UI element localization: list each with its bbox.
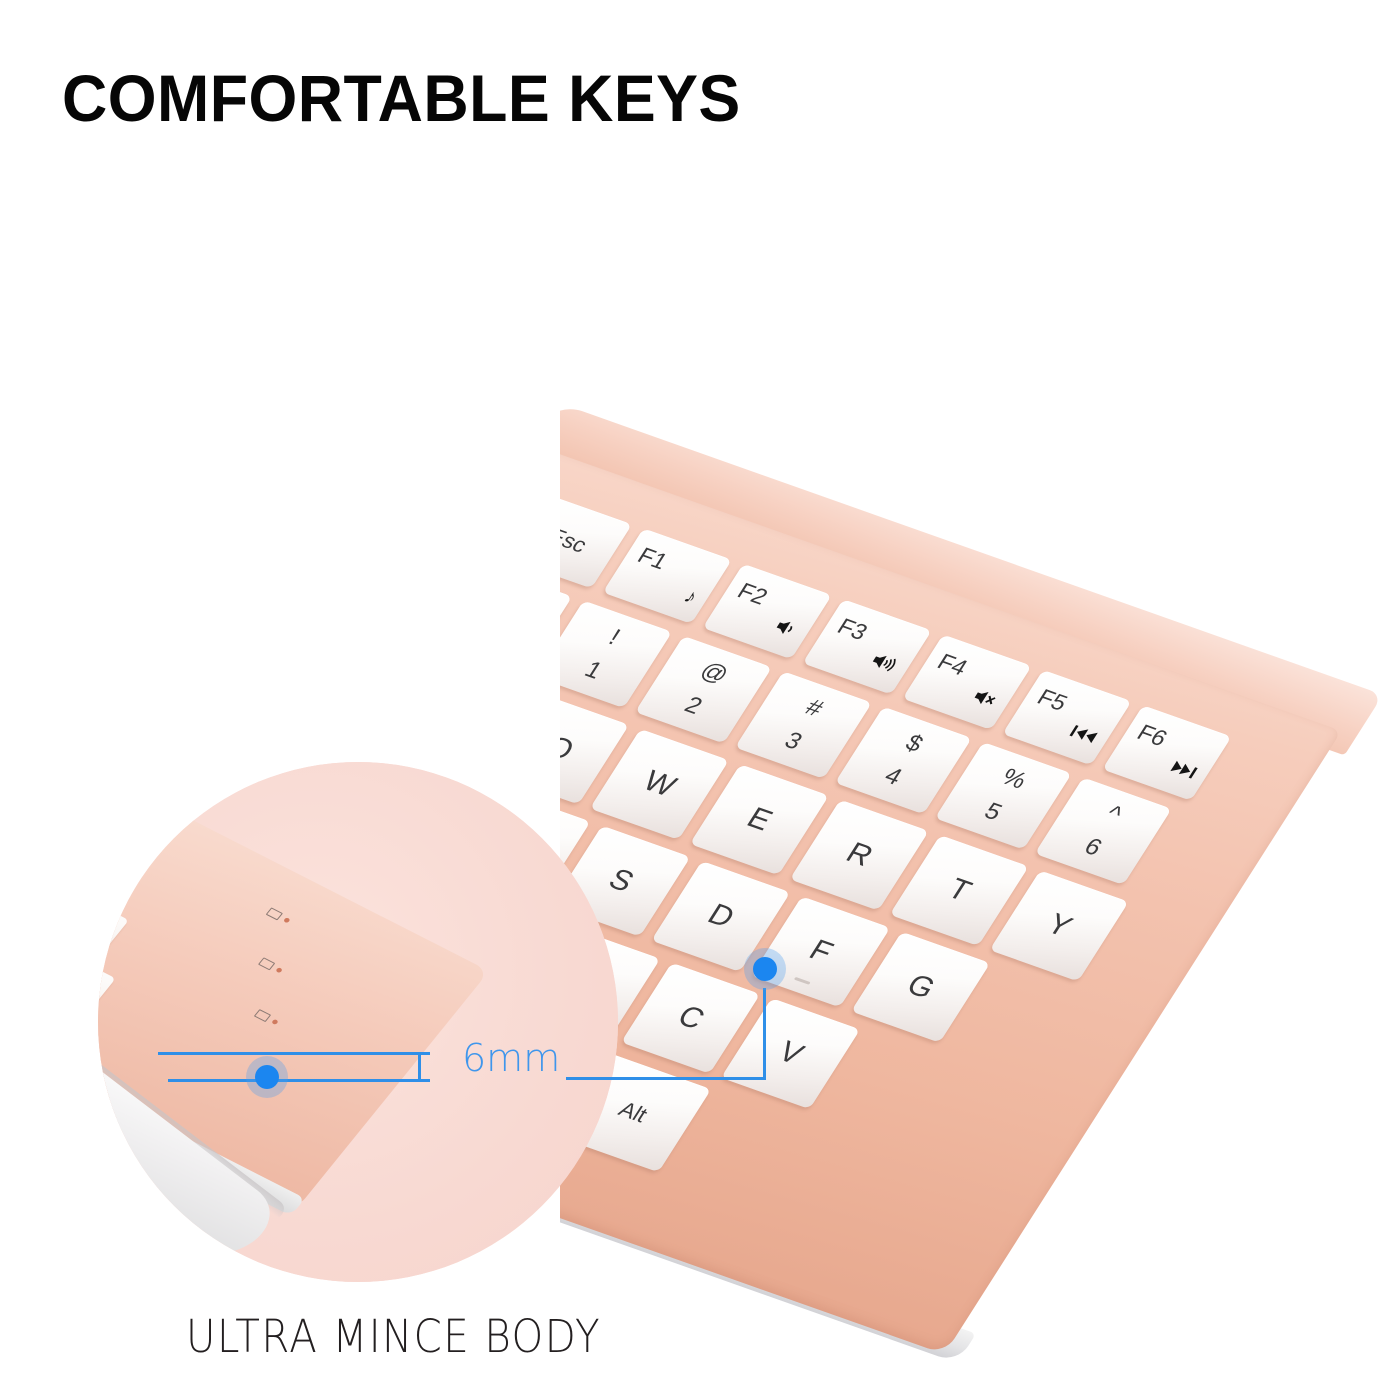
key-f3[interactable]: F3 (802, 599, 931, 694)
dimension-line-bottom (168, 1079, 430, 1082)
key-backtick[interactable]: ~ ` (560, 565, 572, 673)
homing-bar-icon (794, 977, 811, 985)
key-f6[interactable]: F6 (1102, 705, 1231, 800)
inset-marker-dot (246, 1056, 288, 1098)
keyboard-marker-dot (744, 948, 786, 990)
key-f5[interactable]: F5 (1002, 670, 1131, 765)
mute-icon (966, 686, 1002, 715)
key-c[interactable]: C (621, 963, 760, 1074)
key-g[interactable]: G (851, 932, 990, 1043)
page-title: COMFORTABLE KEYS (62, 60, 741, 136)
key-row-function: Esc F1 ♪ F2 F3 (560, 493, 1232, 801)
key-2[interactable]: @ 2 (635, 636, 772, 744)
key-5[interactable]: % 5 (935, 742, 1072, 850)
keyboard-perspective-group: Esc F1 ♪ F2 F3 (560, 380, 1400, 1360)
key-6[interactable]: ^ 6 (1035, 777, 1172, 885)
key-v[interactable]: V (721, 998, 860, 1109)
thickness-detail-inset: 4 5 6 Enter Home 7 ↑ 8 Pg Up 9 + E (98, 762, 618, 1282)
connector-line-vertical (763, 988, 766, 1080)
keyboard-chassis (560, 444, 1341, 1354)
key-3[interactable]: # 3 (735, 671, 872, 779)
connector-line-horizontal (566, 1077, 766, 1080)
key-4[interactable]: $ 4 (835, 707, 972, 815)
music-note-icon: ♪ (679, 586, 701, 609)
keyboard-top-bevel (560, 401, 1383, 755)
key-esc[interactable]: Esc (560, 493, 632, 588)
key-row-qwerty: Tab Q W (560, 650, 1129, 981)
next-track-icon (1164, 757, 1201, 786)
key-f4[interactable]: F4 (902, 635, 1031, 730)
feature-caption: ULTRA MINCE BODY (186, 1310, 601, 1363)
key-r[interactable]: R (790, 800, 929, 911)
dimension-line-top (158, 1052, 430, 1055)
key-f2[interactable]: F2 (703, 564, 832, 659)
volume-up-icon (864, 650, 902, 679)
key-y[interactable]: Y (989, 870, 1128, 981)
key-t[interactable]: T (889, 835, 1028, 946)
previous-track-icon (1064, 722, 1101, 751)
keyboard-base-edge (560, 1040, 976, 1360)
key-1[interactable]: ! 1 (560, 601, 672, 709)
dimension-tick (418, 1052, 421, 1082)
thickness-label: 6mm (462, 1036, 560, 1080)
key-row-home: Caps Lock A S D F G (560, 739, 990, 1043)
key-e[interactable]: E (690, 764, 829, 875)
key-row-numbers: ~ ` ! 1 @ 2 # 3 $ 4 (560, 565, 1172, 885)
volume-down-icon (768, 616, 802, 644)
key-f1[interactable]: F1 ♪ (603, 528, 732, 623)
